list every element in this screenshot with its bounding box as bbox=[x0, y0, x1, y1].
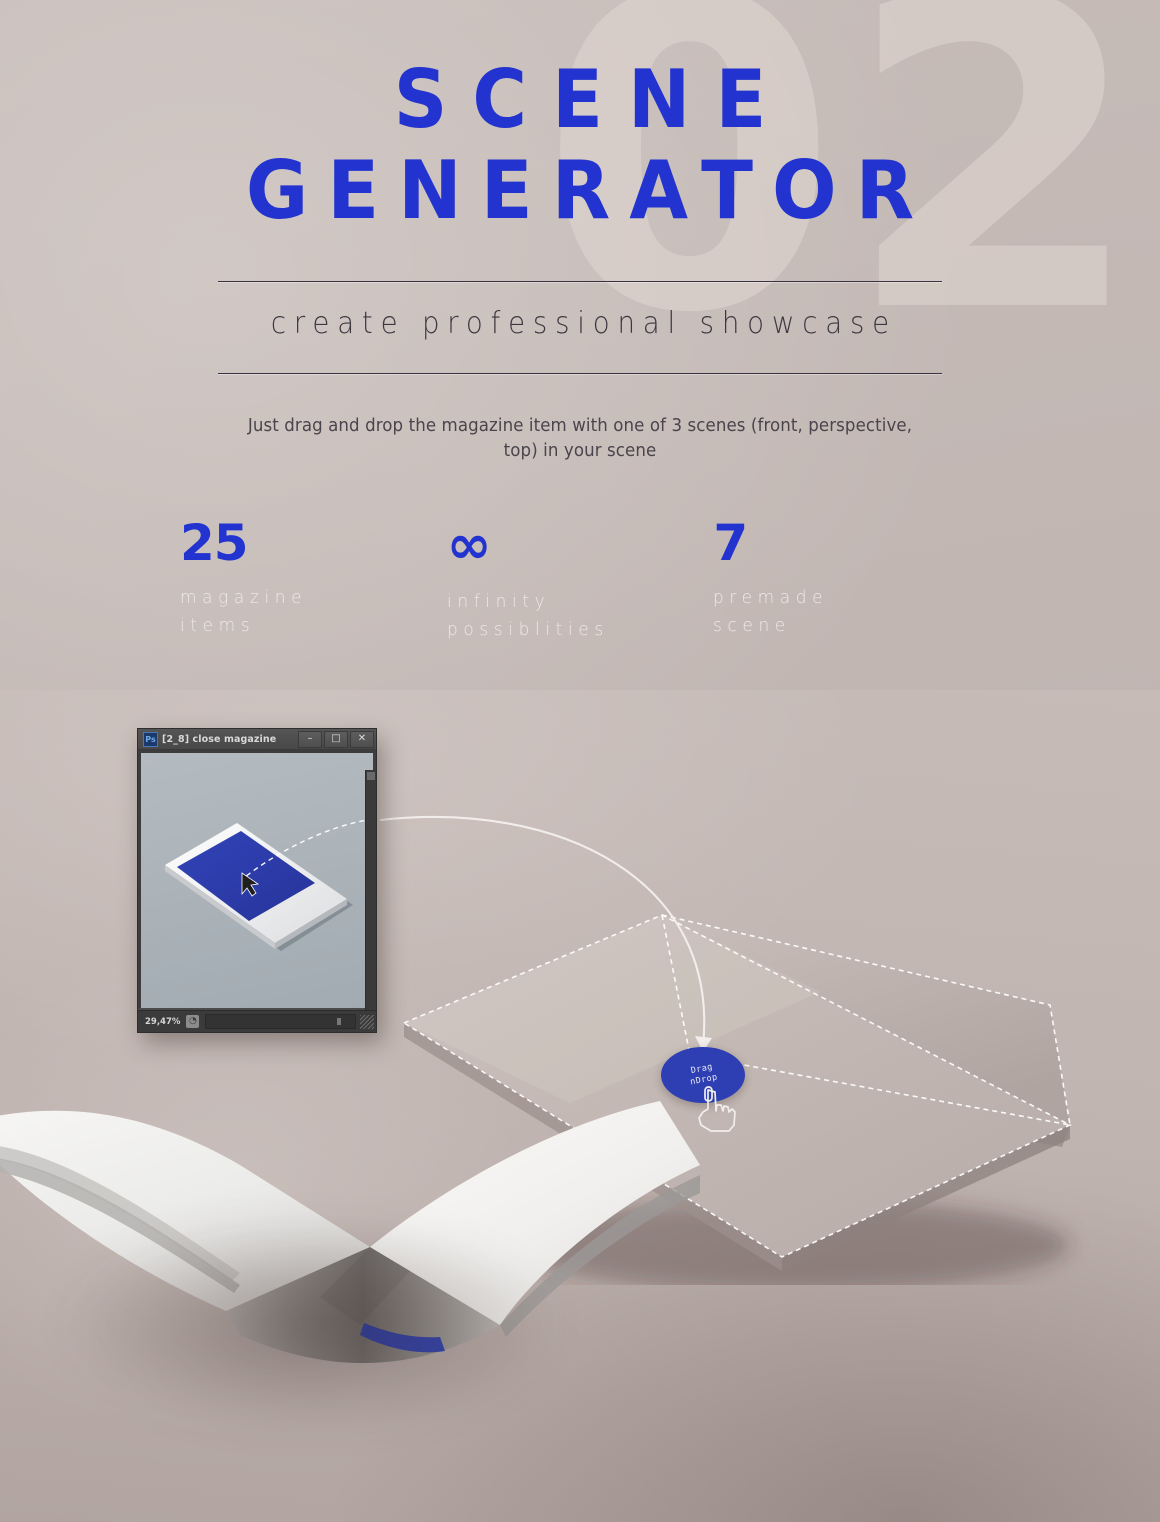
photoshop-statusbar: 29,47% ◔ bbox=[138, 1010, 376, 1032]
stat-value: 25 bbox=[180, 518, 447, 568]
stat-item: 25 magazine items bbox=[180, 518, 447, 644]
scroll-thumb[interactable] bbox=[337, 1018, 341, 1025]
subtitle: create professional showcase bbox=[46, 306, 1113, 341]
resize-grip[interactable] bbox=[360, 1015, 374, 1029]
minimize-button[interactable]: – bbox=[298, 731, 322, 748]
photoshop-app-icon: Ps bbox=[143, 732, 158, 747]
stat-label: magazine items bbox=[180, 584, 431, 640]
poster-canvas: 02 SCENE GENERATOR create professional s… bbox=[0, 0, 1160, 1522]
stat-label-line-1: infinity bbox=[447, 588, 698, 616]
stat-label-line-2: scene bbox=[713, 612, 964, 640]
vertical-scrollbar[interactable] bbox=[365, 770, 376, 1028]
stat-item: ∞ infinity possiblities bbox=[447, 518, 714, 644]
stat-label: premade scene bbox=[713, 584, 964, 640]
title-line-2: GENERATOR bbox=[29, 153, 1131, 230]
stat-value: 7 bbox=[713, 518, 980, 568]
photoshop-canvas-area[interactable] bbox=[138, 750, 376, 1008]
divider-bottom bbox=[218, 373, 942, 374]
page-title: SCENE GENERATOR bbox=[0, 62, 1160, 230]
photoshop-canvas[interactable] bbox=[141, 753, 373, 1008]
horizontal-scrollbar[interactable] bbox=[205, 1014, 356, 1029]
window-controls[interactable]: – □ ✕ bbox=[298, 731, 374, 748]
title-line-1: SCENE bbox=[41, 62, 1120, 139]
stat-label-line-2: possiblities bbox=[447, 616, 698, 644]
photoshop-titlebar[interactable]: Ps [2_8] close magazine – □ ✕ bbox=[138, 729, 376, 750]
divider-top bbox=[218, 281, 942, 282]
maximize-button[interactable]: □ bbox=[324, 731, 348, 748]
stat-label: infinity possiblities bbox=[447, 588, 698, 644]
description-text: Just drag and drop the magazine item wit… bbox=[248, 414, 913, 465]
stat-label-line-1: magazine bbox=[180, 584, 431, 612]
stat-label-line-1: premade bbox=[713, 584, 964, 612]
close-button[interactable]: ✕ bbox=[350, 731, 374, 748]
stat-label-line-2: items bbox=[180, 612, 431, 640]
stats-row: 25 magazine items ∞ infinity possiblitie… bbox=[180, 518, 980, 644]
scroll-up-arrow[interactable] bbox=[367, 772, 375, 780]
photoshop-window[interactable]: Ps [2_8] close magazine – □ ✕ bbox=[137, 728, 377, 1033]
stat-item: 7 premade scene bbox=[713, 518, 980, 644]
document-info-icon[interactable]: ◔ bbox=[186, 1015, 199, 1028]
stat-value: ∞ bbox=[447, 518, 714, 572]
zoom-level[interactable]: 29,47% bbox=[138, 1017, 186, 1027]
hand-cursor-icon bbox=[689, 1085, 745, 1137]
photoshop-window-title: [2_8] close magazine bbox=[162, 734, 276, 745]
